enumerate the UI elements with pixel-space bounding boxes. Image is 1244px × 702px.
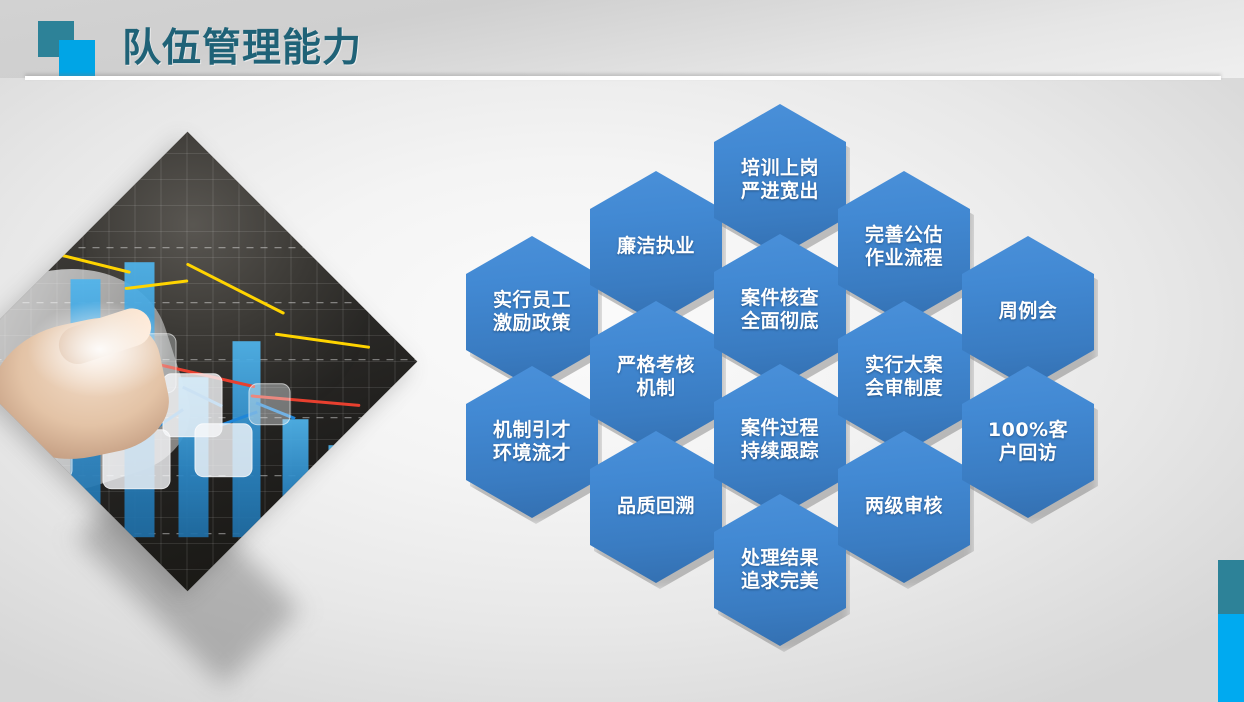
hexagon-label: 100%客 户回访: [984, 419, 1072, 465]
hexagon-label: 完善公估 作业流程: [861, 224, 947, 270]
corner-teal-block-icon: [1218, 560, 1244, 614]
hexagon-label: 案件过程 持续跟踪: [737, 417, 823, 463]
hexagon-label: 培训上岗 严进宽出: [737, 157, 823, 203]
hexagon-label: 案件核查 全面彻底: [737, 287, 823, 333]
hexagon-cluster: 实行员工 激励政策机制引才 环境流才廉洁执业严格考核 机制品质回溯培训上岗 严进…: [0, 0, 1244, 702]
hexagon-label: 廉洁执业: [613, 235, 699, 258]
hexagon-label: 两级审核: [861, 495, 947, 518]
hexagon-label: 处理结果 追求完美: [737, 547, 823, 593]
hexagon-label: 严格考核 机制: [613, 354, 699, 400]
hexagon-label: 品质回溯: [613, 495, 699, 518]
hexagon-label: 机制引才 环境流才: [489, 419, 575, 465]
slide-canvas: 队伍管理能力: [0, 0, 1244, 702]
hexagon-label: 周例会: [995, 300, 1062, 323]
corner-blue-block-icon: [1218, 614, 1244, 702]
hexagon-label: 实行大案 会审制度: [861, 354, 947, 400]
hexagon-label: 实行员工 激励政策: [489, 289, 575, 335]
